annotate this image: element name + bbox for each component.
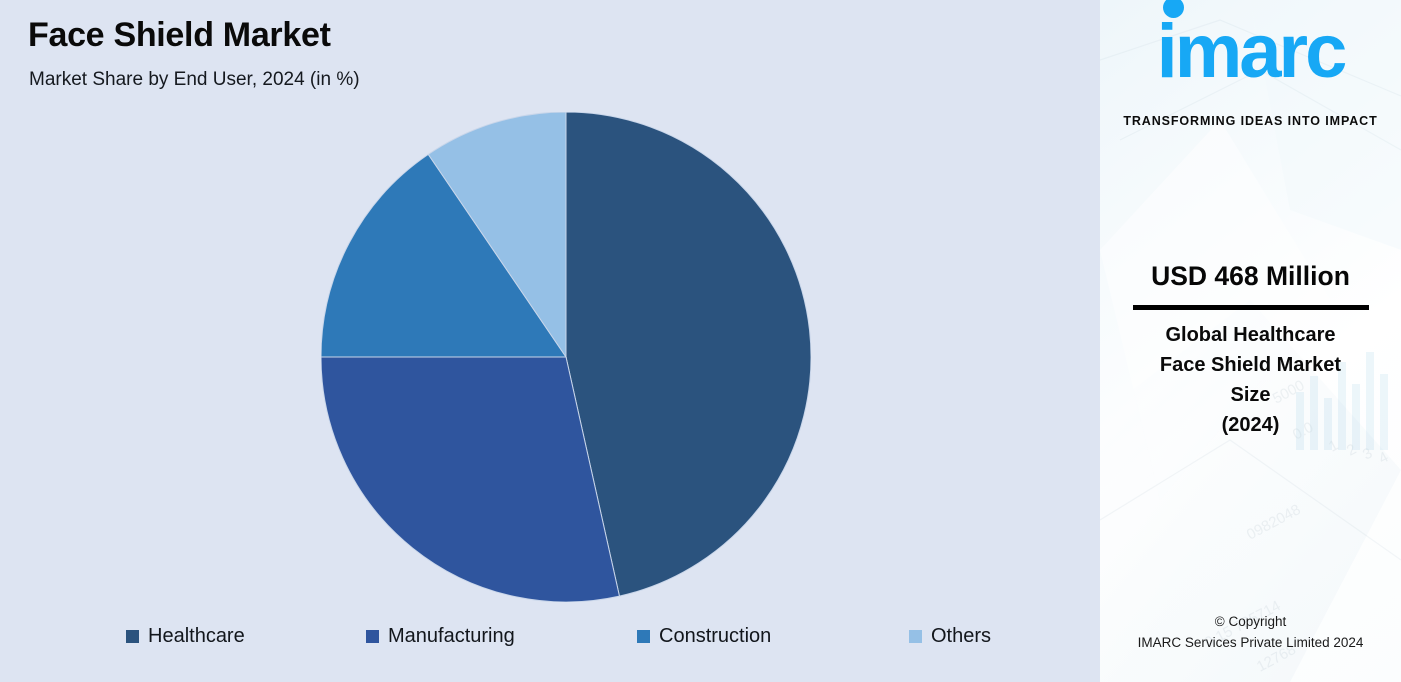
pie-chart-svg: [321, 112, 811, 602]
market-description: Global Healthcare Face Shield Market Siz…: [1118, 320, 1383, 440]
copyright: © Copyright IMARC Services Private Limit…: [1100, 612, 1401, 654]
divider: [1133, 305, 1369, 310]
legend-label: Manufacturing: [388, 626, 515, 646]
chart-panel: Face Shield Market Market Share by End U…: [0, 0, 1100, 682]
legend-swatch-icon: [637, 630, 650, 643]
legend-swatch-icon: [126, 630, 139, 643]
brand-tagline: TRANSFORMING IDEAS INTO IMPACT: [1100, 114, 1401, 128]
brand-logo-dot-icon: [1163, 0, 1184, 18]
legend-label: Others: [931, 626, 991, 646]
legend-label: Construction: [659, 626, 771, 646]
chart-legend: Healthcare Manufacturing Construction Ot…: [0, 620, 1100, 660]
legend-item-healthcare[interactable]: Healthcare: [126, 620, 245, 652]
market-description-line-4: (2024): [1118, 410, 1383, 440]
market-description-line-2: Face Shield Market: [1118, 350, 1383, 380]
page-subtitle: Market Share by End User, 2024 (in %): [29, 69, 360, 91]
pie-chart: [321, 112, 811, 602]
legend-item-construction[interactable]: Construction: [637, 620, 771, 652]
market-value: USD 468 Million: [1100, 261, 1401, 292]
brand-logo-text: imarc: [1157, 9, 1345, 94]
brand-panel: 0.0 1 2 3 4 5000 0982048 0.15 785714 127…: [1100, 0, 1401, 682]
legend-label: Healthcare: [148, 626, 245, 646]
market-description-line-1: Global Healthcare: [1118, 320, 1383, 350]
copyright-line-1: © Copyright: [1100, 612, 1401, 633]
legend-swatch-icon: [909, 630, 922, 643]
copyright-line-2: IMARC Services Private Limited 2024: [1100, 633, 1401, 654]
pie-slice-manufacturing[interactable]: [321, 357, 619, 602]
legend-item-others[interactable]: Others: [909, 620, 991, 652]
legend-item-manufacturing[interactable]: Manufacturing: [366, 620, 515, 652]
market-description-line-3: Size: [1118, 380, 1383, 410]
pie-slice-group: [321, 112, 811, 602]
page-title: Face Shield Market: [28, 17, 331, 54]
chart-screenshot: Face Shield Market Market Share by End U…: [0, 0, 1401, 682]
brand-logo-wordmark: imarc: [1157, 14, 1345, 90]
legend-swatch-icon: [366, 630, 379, 643]
